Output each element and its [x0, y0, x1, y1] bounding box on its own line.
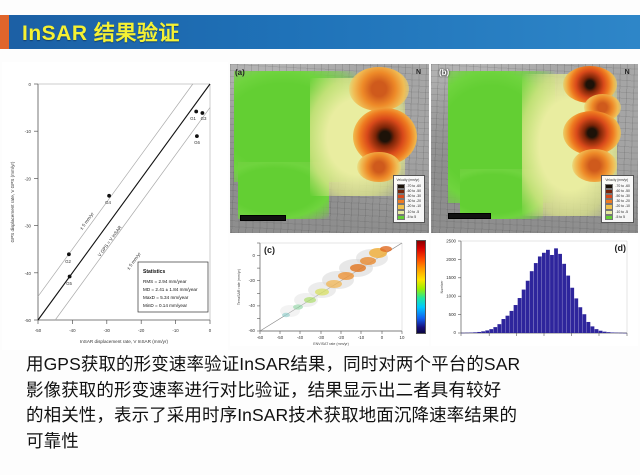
figure-grid: N Velocity (mm/yr) -70 to -60 -60 to -50… [230, 64, 638, 350]
histogram-bar [587, 322, 591, 333]
histogram-bar [473, 332, 477, 333]
panel-d-histogram: 0 500 1000 1500 2000 2500 Number (d) [431, 235, 638, 346]
histogram-bar [570, 288, 574, 333]
histogram-bar [562, 264, 566, 333]
panel-c-tag: (c) [264, 245, 275, 255]
data-point [67, 252, 71, 256]
data-point [195, 134, 199, 138]
north-arrow-icon: N [625, 69, 630, 76]
caption-line: 的相关性，表示了采用时序InSAR技术获取地面沉降速率结果的 [26, 403, 624, 429]
svg-text:0: 0 [209, 328, 212, 333]
svg-text:MinD = 0.14 mm/year: MinD = 0.14 mm/year [143, 303, 188, 308]
histogram-bar [489, 329, 493, 333]
svg-text:-40: -40 [69, 328, 76, 333]
legend-title: Velocity (mm/yr) [605, 178, 630, 183]
legend-label: -10 to -5 [407, 210, 420, 215]
histogram-bar [611, 332, 615, 333]
histogram-bar [566, 276, 570, 333]
svg-text:0: 0 [454, 330, 457, 335]
svg-text:-10: -10 [25, 129, 32, 134]
map-b-legend: Velocity (mm/yr) -70 to -60 -60 to -50 -… [601, 175, 634, 223]
histogram-bar [554, 248, 558, 333]
histogram-bar [558, 254, 562, 333]
y-axis-label: GPS displacement rate, V GPS (mm/yr) [10, 161, 15, 242]
scatter-svg: -50 -40 -30 -20 -10 0 -50 -40 -30 -20 -1… [2, 62, 228, 350]
svg-text:2500: 2500 [446, 239, 456, 244]
data-point [194, 110, 198, 114]
histogram-bar [534, 263, 538, 333]
legend-swatch [397, 215, 405, 220]
svg-text:-50: -50 [277, 335, 284, 340]
svg-text:0: 0 [253, 253, 256, 258]
histogram-bar [506, 316, 510, 333]
panel-b-tag: (b) [439, 68, 449, 77]
svg-text:0: 0 [29, 82, 32, 87]
legend-label: -20 to -10 [407, 204, 422, 209]
legend-label: -20 to -10 [615, 204, 630, 209]
legend-label: -30 to -20 [615, 199, 630, 204]
svg-text:-30: -30 [104, 328, 111, 333]
svg-text:G4: G4 [105, 200, 111, 205]
legend-label: -50 to -30 [615, 194, 630, 199]
histogram-bar [591, 326, 595, 333]
panel-a-tag: (a) [235, 68, 245, 77]
svg-text:-30: -30 [25, 224, 32, 229]
svg-text:-10: -10 [358, 335, 365, 340]
svg-text:500: 500 [449, 312, 457, 317]
svg-text:G2: G2 [65, 259, 71, 264]
histogram-bar [493, 327, 497, 333]
legend-label: -5 to 5 [407, 215, 417, 220]
legend-label: -5 to 5 [615, 215, 625, 220]
svg-text:-60: -60 [249, 328, 256, 333]
x-ticks: -50 -40 -30 -20 -10 0 [35, 320, 212, 333]
panel-d-tag: (d) [615, 243, 627, 253]
statistics-box: Statistics RMS = 2.94 mm/year MD = 2.41 … [138, 262, 208, 312]
y-ticks: -50 -40 -30 -20 -10 0 [25, 82, 38, 323]
histogram-bar [477, 332, 481, 333]
histogram-bar [550, 255, 554, 333]
histogram-bar [526, 281, 530, 333]
svg-text:V GPS = V InSAR: V GPS = V InSAR [97, 224, 123, 257]
histogram-bar [510, 311, 514, 333]
legend-label: -10 to -5 [615, 210, 628, 215]
svg-text:-40: -40 [249, 303, 256, 308]
svg-text:-50: -50 [25, 318, 32, 323]
data-point [201, 111, 205, 115]
svg-text:G1: G1 [190, 116, 196, 121]
legend-label: -50 to -30 [407, 194, 422, 199]
legend-label: -60 to -50 [407, 189, 422, 194]
svg-text:Statistics: Statistics [143, 269, 165, 275]
histogram-bar [574, 298, 578, 333]
svg-text:1000: 1000 [446, 294, 456, 299]
histogram-bar [514, 305, 518, 333]
svg-text:G5: G5 [66, 281, 72, 286]
histogram-bar [530, 271, 534, 333]
histogram-bar [599, 331, 603, 333]
svg-text:-10: -10 [172, 328, 179, 333]
panel-d-bars [461, 248, 627, 333]
histogram-bar [542, 253, 546, 333]
svg-text:2000: 2000 [446, 257, 456, 262]
gps-insar-scatter-figure: -50 -40 -30 -20 -10 0 -50 -40 -30 -20 -1… [2, 62, 228, 350]
histogram-bar [607, 332, 611, 333]
svg-text:G3: G3 [201, 116, 207, 121]
map-a: N Velocity (mm/yr) -70 to -60 -60 to -50… [230, 64, 429, 233]
histogram-bar [538, 256, 542, 333]
svg-text:MD = 2.41 ± 1.84 mm/year: MD = 2.41 ± 1.84 mm/year [143, 287, 198, 292]
svg-text:MaxD = 5.34 mm/year: MaxD = 5.34 mm/year [143, 295, 189, 300]
panel-a-velocity-map: N Velocity (mm/yr) -70 to -60 -60 to -50… [230, 64, 429, 233]
map-a-legend: Velocity (mm/yr) -70 to -60 -60 to -50 -… [393, 175, 426, 223]
histogram-bar [518, 298, 522, 333]
legend-label: -70 to -60 [407, 184, 422, 189]
histogram-bar [595, 329, 599, 333]
map-b: N Velocity (mm/yr) -70 to -60 -60 to -50… [431, 64, 638, 233]
svg-text:-30: -30 [318, 335, 325, 340]
slide-caption: 用GPS获取的形变速率验证InSAR结果，同时对两个平台的SAR 影像获取的形变… [26, 352, 624, 454]
map-b-scalebar [448, 213, 491, 219]
panel-c-density-scatter: -60 -50 -40 -30 -20 -10 0 10 -60 -40 -20… [230, 235, 429, 346]
panel-c-svg: -60 -50 -40 -30 -20 -10 0 10 -60 -40 -20… [230, 235, 429, 346]
caption-line: 影像获取的形变速率进行对比验证，结果显示出二者具有较好 [26, 378, 624, 404]
histogram-bar [481, 331, 485, 333]
slide-title-bar: InSAR 结果验证 [0, 15, 640, 49]
panel-c-x-label: ENVISAT rate (mm/yr) [313, 342, 349, 346]
svg-text:-20: -20 [338, 335, 345, 340]
histogram-bar [522, 290, 526, 333]
histogram-bar [485, 330, 489, 333]
data-point [107, 194, 111, 198]
svg-text:-40: -40 [297, 335, 304, 340]
svg-text:-20: -20 [25, 176, 32, 181]
panel-c-density-cloud [280, 246, 392, 317]
north-arrow-icon: N [416, 69, 421, 76]
caption-line: 用GPS获取的形变速率验证InSAR结果，同时对两个平台的SAR [26, 352, 624, 378]
histogram-bar [582, 314, 586, 333]
data-point [68, 275, 72, 279]
svg-text:-20: -20 [249, 278, 256, 283]
svg-text:-20: -20 [138, 328, 145, 333]
svg-text:-60: -60 [257, 335, 264, 340]
x-axis-label: InSAR displacement rate, V InSAR (mm/yr) [80, 339, 169, 344]
histogram-bar [546, 250, 550, 333]
slide-root: InSAR 结果验证 -50 -40 -30 -20 [0, 0, 640, 475]
svg-text:RMS = 2.94 mm/year: RMS = 2.94 mm/year [143, 279, 187, 284]
title-accent-bar [0, 15, 9, 49]
svg-text:0: 0 [381, 335, 384, 340]
histogram-bar [578, 307, 582, 333]
legend-title: Velocity (mm/yr) [397, 178, 422, 183]
panel-c-y-label: TerraSAR rate (mm/yr) [237, 269, 241, 305]
legend-label: -70 to -60 [615, 184, 630, 189]
svg-text:-50: -50 [35, 328, 42, 333]
legend-item: -5 to 5 [605, 215, 630, 220]
svg-text:1500: 1500 [446, 275, 456, 280]
histogram-bar [603, 332, 607, 333]
panel-b-velocity-map: N Velocity (mm/yr) -70 to -60 -60 to -50… [431, 64, 638, 233]
legend-label: -30 to -20 [407, 199, 422, 204]
page-title: InSAR 结果验证 [22, 17, 180, 47]
panel-d-y-label: Number [440, 280, 444, 294]
svg-text:G6: G6 [194, 140, 200, 145]
caption-line: 可靠性 [26, 429, 624, 455]
panel-d-svg: 0 500 1000 1500 2000 2500 Number [431, 235, 638, 346]
legend-swatch [605, 215, 613, 220]
histogram-bar [501, 319, 505, 333]
map-a-scalebar [240, 215, 286, 221]
legend-item: -5 to 5 [397, 215, 422, 220]
panel-c-colorbar [416, 240, 426, 334]
svg-text:-40: -40 [25, 271, 32, 276]
svg-text:10: 10 [400, 335, 405, 340]
legend-label: -60 to -50 [615, 189, 630, 194]
histogram-bar [497, 324, 501, 333]
